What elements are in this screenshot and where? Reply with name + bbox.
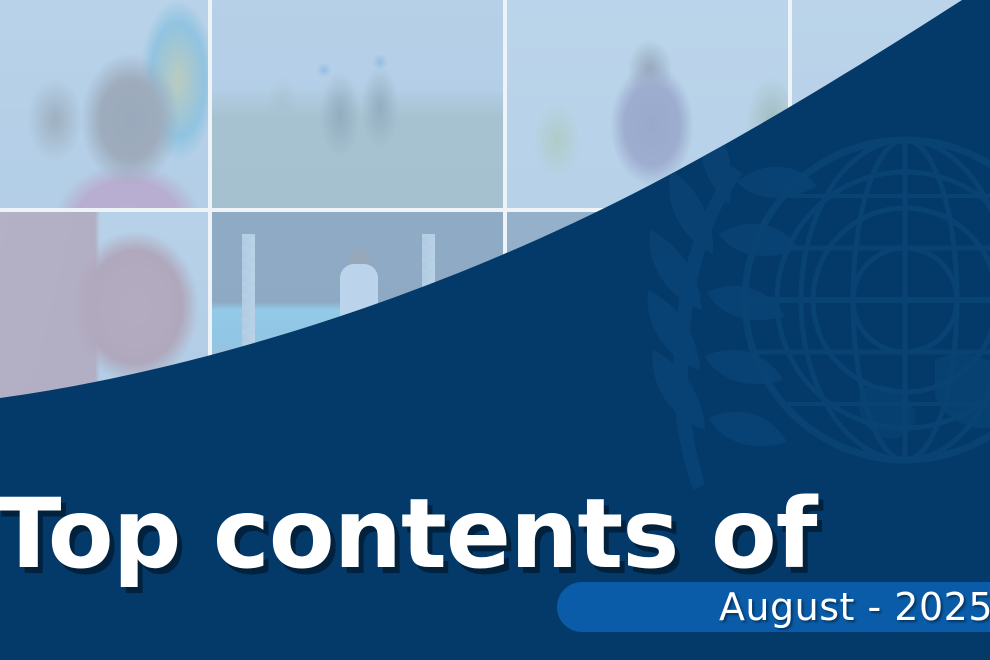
banner-title-line-1: Top contents of xyxy=(0,488,896,580)
banner-canvas: Top contents of the month August - 2025 xyxy=(0,0,990,660)
date-badge-label: August - 2025 xyxy=(719,585,990,629)
date-badge: August - 2025 xyxy=(557,582,990,632)
